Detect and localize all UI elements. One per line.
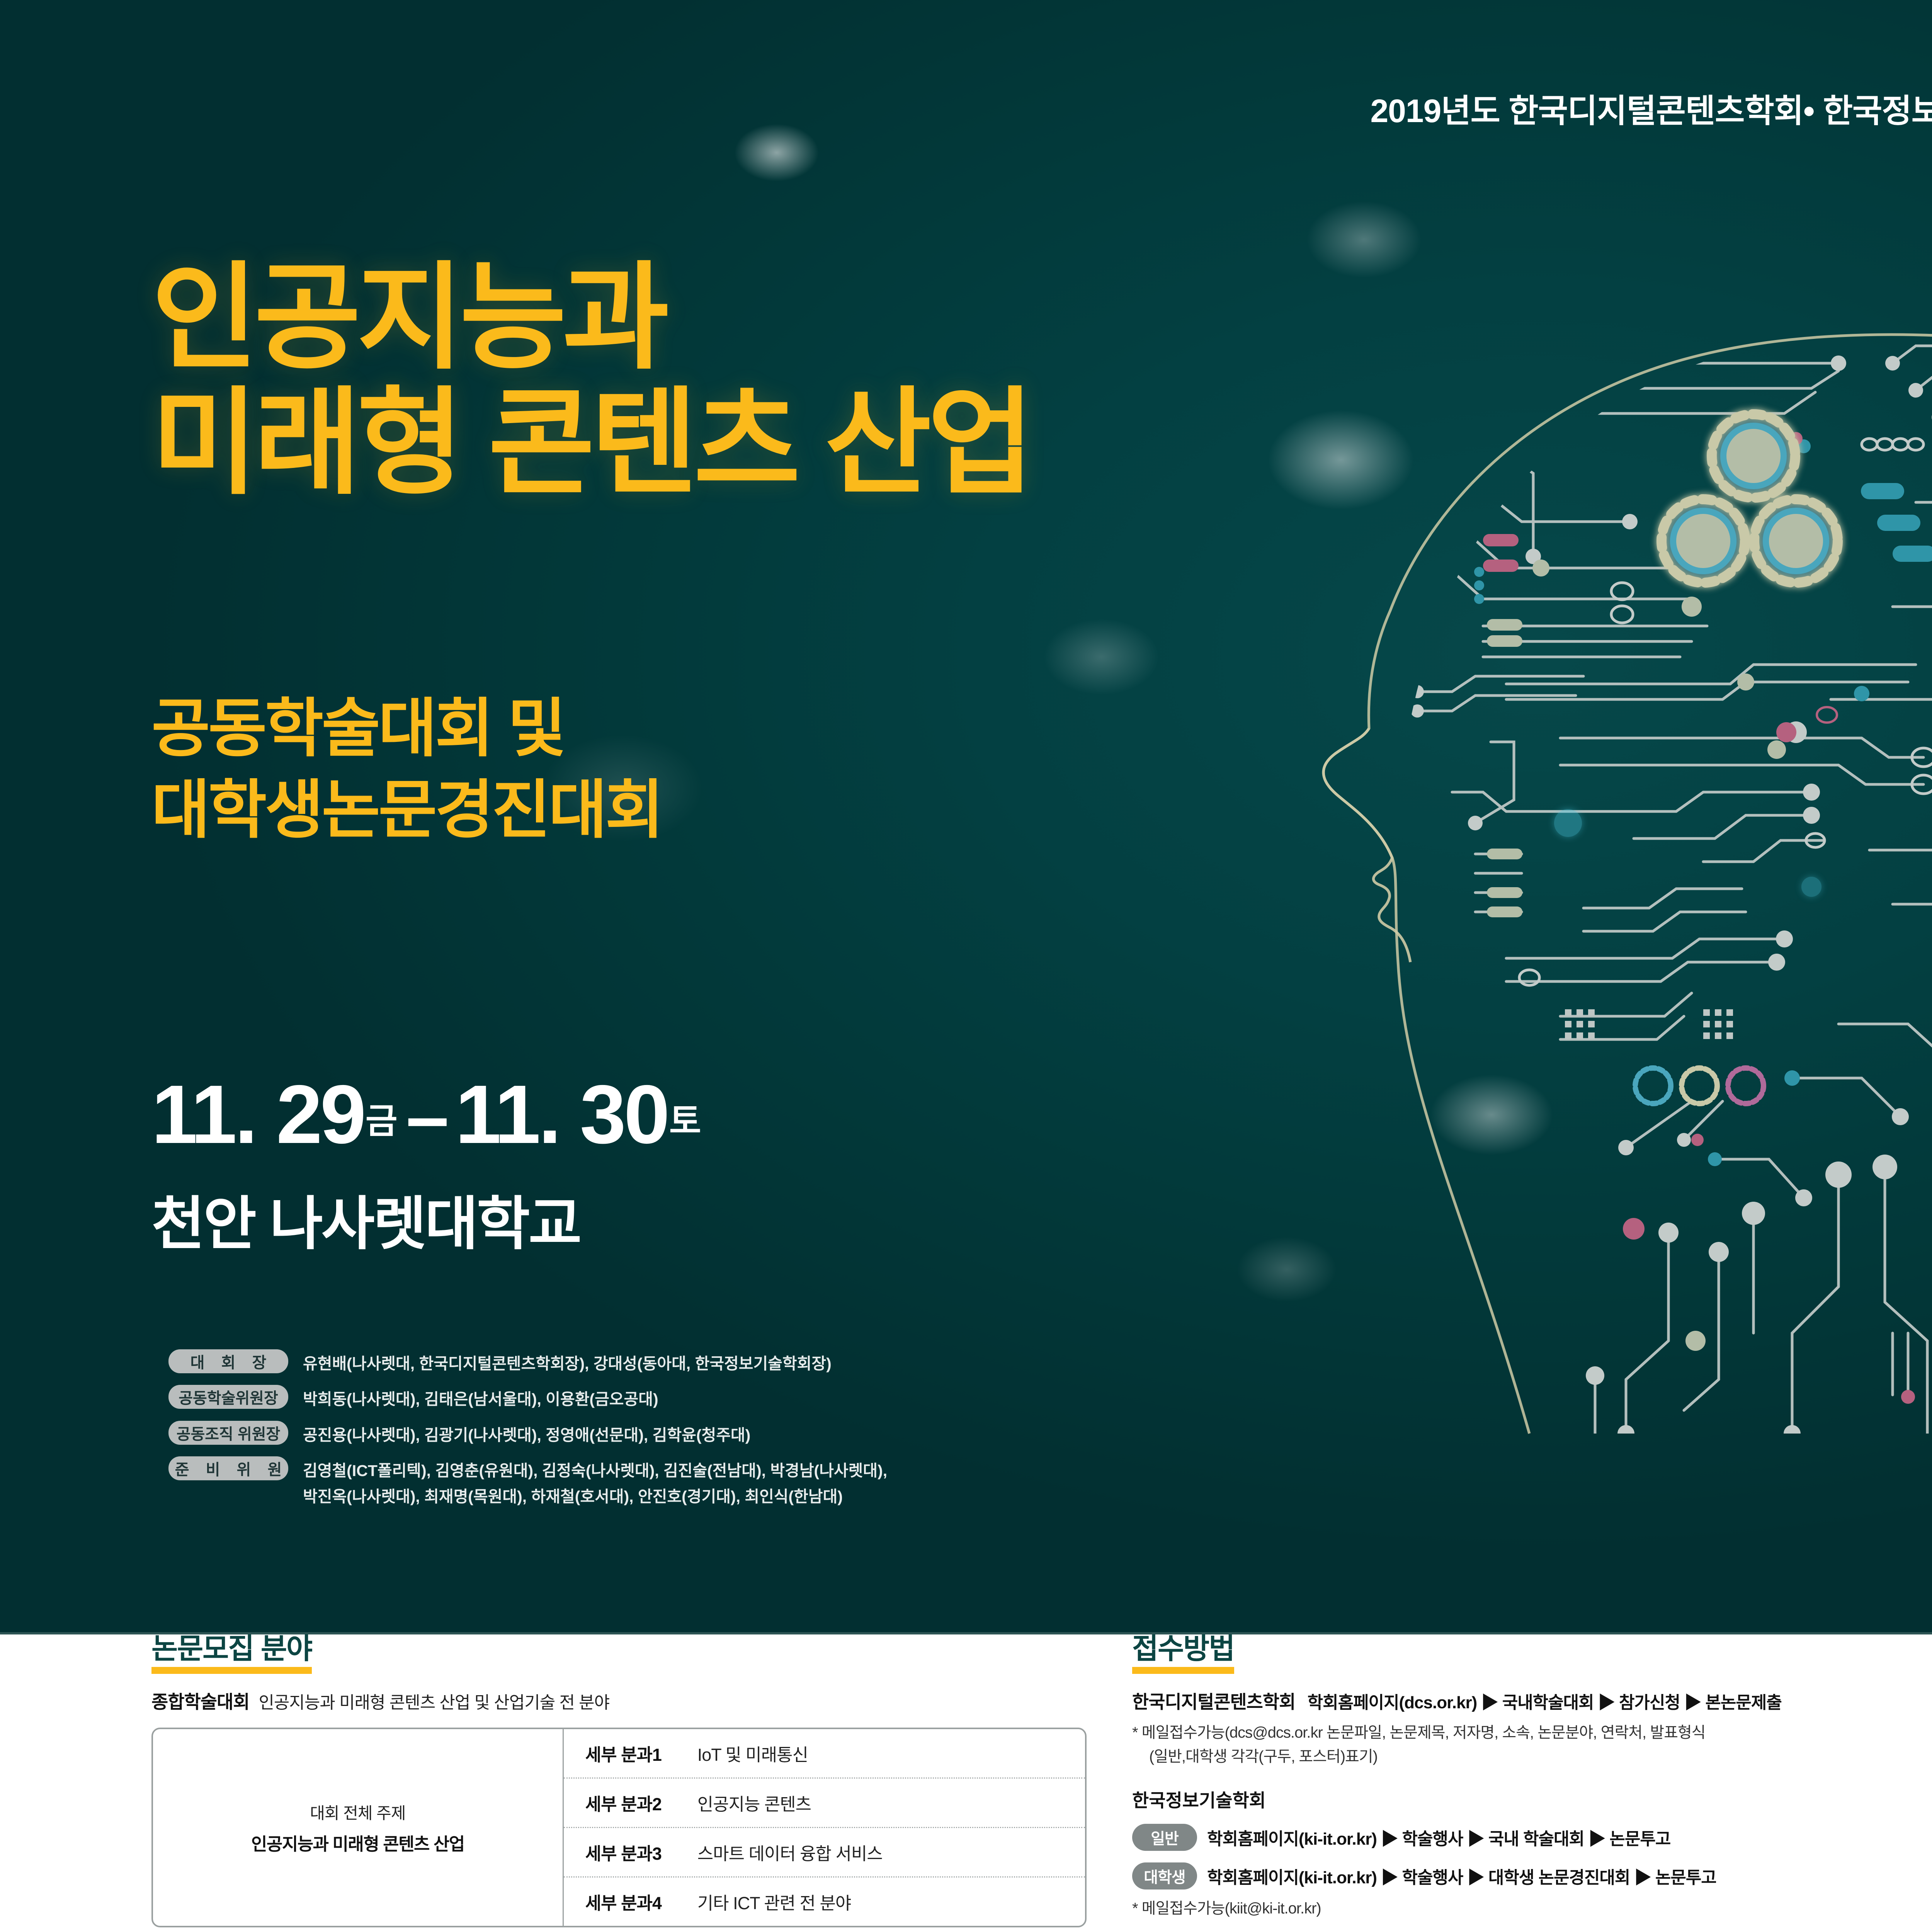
track-cell: 세부 분과2인공지능 콘텐츠 xyxy=(563,1778,1085,1828)
application-dcs-note: * 메일접수가능(dcs@dcs.or.kr 논문파일, 논문제목, 저자명, … xyxy=(1132,1721,1932,1769)
left-column: 논문모집 분야 종합학술대회 인공지능과 미래형 콘텐츠 산업 및 산업기술 전… xyxy=(151,1634,1087,1932)
theme-label: 대회 전체 주제 xyxy=(159,1800,556,1824)
committee-names: 박희동(나사렛대), 김태은(남서울대), 이용환(금오공대) xyxy=(303,1385,658,1412)
application-path: 학회홈페이지(dcs.or.kr) ▶ 국내학술대회 ▶ 참가신청 ▶ 본논문제… xyxy=(1308,1693,1782,1712)
committee-names: 공진용(나사렛대), 김광기(나사렛대), 정영애(선문대), 김학윤(청주대) xyxy=(303,1421,750,1448)
application-path: 학회홈페이지(ki-it.or.kr) ▶ 학술행사 ▶ 대학생 논문경진대회 … xyxy=(1207,1864,1716,1888)
track-name: IoT 및 미래통신 xyxy=(697,1745,808,1765)
date-start: 11. 29 xyxy=(151,1068,364,1161)
right-column: 접수방법 한국디지털콘텐츠학회 학회홈페이지(dcs.or.kr) ▶ 국내학술… xyxy=(1132,1634,1932,1932)
badge-student: 대학생 xyxy=(1132,1862,1197,1889)
poster-title: 인공지능과 미래형 콘텐츠 산업 xyxy=(151,255,1031,505)
committee-name-line: 유현배(나사렛대, 한국디지털콘텐츠학회장), 강대성(동아대, 한국정보기술학… xyxy=(303,1351,832,1376)
date-end: 11. 30 xyxy=(455,1068,668,1161)
track-label: 세부 분과2 xyxy=(585,1790,697,1815)
committee-row: 준 비 위 원 김영철(ICT폴리텍), 김영춘(유원대), 김정숙(나사렛대)… xyxy=(168,1456,1250,1509)
track-label: 세부 분과4 xyxy=(585,1889,697,1914)
track-name: 기타 ICT 관련 전 분야 xyxy=(697,1893,851,1913)
committee-row: 공동조직 위원장 공진용(나사렛대), 김광기(나사렛대), 정영애(선문대),… xyxy=(168,1421,1250,1448)
topic-table: 대회 전체 주제 인공지능과 미래형 콘텐츠 산업 세부 분과1IoT 및 미래… xyxy=(151,1728,1087,1927)
application-note-line-2: (일반,대학생 각각(구두, 포스터)표기) xyxy=(1132,1745,1932,1769)
application-path: 학회홈페이지(ki-it.or.kr) ▶ 학술행사 ▶ 국내 학술대회 ▶ 논… xyxy=(1207,1825,1670,1850)
theme-value: 인공지능과 미래형 콘텐츠 산업 xyxy=(159,1830,556,1855)
track-cell: 세부 분과3스마트 데이터 융합 서비스 xyxy=(563,1828,1085,1877)
track-label: 세부 분과1 xyxy=(585,1741,697,1766)
subtitle-line-2: 대학생논문경진대회 xyxy=(151,769,662,851)
glow-decoration xyxy=(1043,618,1159,696)
application-kiit-row: 대학생 학회홈페이지(ki-it.or.kr) ▶ 학술행사 ▶ 대학생 논문경… xyxy=(1132,1862,1932,1889)
committee-role: 공동학술위원장 xyxy=(168,1385,288,1409)
theme-cell: 대회 전체 주제 인공지능과 미래형 콘텐츠 산업 xyxy=(153,1729,563,1926)
track-cell: 세부 분과1IoT 및 미래통신 xyxy=(563,1729,1085,1778)
section-heading-application: 접수방법 xyxy=(1132,1634,1234,1674)
application-kiit-block: 한국정보기술학회 일반 학회홈페이지(ki-it.or.kr) ▶ 학술행사 ▶… xyxy=(1132,1786,1932,1920)
subtitle-line-1: 공동학술대회 및 xyxy=(151,688,662,769)
track-name: 인공지능 콘텐츠 xyxy=(697,1794,811,1814)
committee-row: 공동학술위원장 박희동(나사렛대), 김태은(남서울대), 이용환(금오공대) xyxy=(168,1385,1250,1412)
application-kiit-row: 일반 학회홈페이지(ki-it.or.kr) ▶ 학술행사 ▶ 국내 학술대회 … xyxy=(1132,1824,1932,1851)
application-society-name: 한국디지털콘텐츠학회 xyxy=(1132,1692,1295,1712)
date-start-dow: 금 xyxy=(366,1102,398,1141)
application-note-line-1: * 메일접수가능(dcs@dcs.or.kr 논문파일, 논문제목, 저자명, … xyxy=(1132,1724,1705,1741)
application-kiit-note: * 메일접수가능(kiit@ki-it.or.kr) xyxy=(1132,1896,1932,1920)
hero-tagline: 2019년도 한국디지털콘텐츠학회• 한국정보기술학회 xyxy=(1370,85,1932,132)
section-heading-text: 접수방법 xyxy=(1132,1634,1234,1663)
event-date-block: 11. 29금–11. 30토 천안 나사렛대학교 xyxy=(151,1066,704,1261)
committee-name-line: 김영철(ICT폴리텍), 김영춘(유원대), 김정숙(나사렛대), 김진술(전남… xyxy=(303,1458,887,1483)
application-society-name: 한국정보기술학회 xyxy=(1132,1786,1932,1812)
general-conference-row: 종합학술대회 인공지능과 미래형 콘텐츠 산업 및 산업기술 전 분야 xyxy=(151,1687,1087,1714)
committee-names: 유현배(나사렛대, 한국디지털콘텐츠학회장), 강대성(동아대, 한국정보기술학… xyxy=(303,1349,832,1376)
committee-row: 대 회 장 유현배(나사렛대, 한국디지털콘텐츠학회장), 강대성(동아대, 한… xyxy=(168,1349,1250,1376)
general-conference-value: 인공지능과 미래형 콘텐츠 산업 및 산업기술 전 분야 xyxy=(259,1689,609,1713)
general-conference-label: 종합학술대회 xyxy=(151,1687,249,1714)
title-line-2: 미래형 콘텐츠 산업 xyxy=(151,380,1031,505)
committee-list: 대 회 장 유현배(나사렛대, 한국디지털콘텐츠학회장), 강대성(동아대, 한… xyxy=(168,1349,1250,1518)
application-section: 접수방법 한국디지털콘텐츠학회 학회홈페이지(dcs.or.kr) ▶ 국내학술… xyxy=(1132,1634,1932,1920)
badge-general: 일반 xyxy=(1132,1824,1197,1851)
application-dcs-row: 한국디지털콘텐츠학회 학회홈페이지(dcs.or.kr) ▶ 국내학술대회 ▶ … xyxy=(1132,1687,1932,1714)
committee-role: 준 비 위 원 xyxy=(168,1456,288,1480)
event-date: 11. 29금–11. 30토 xyxy=(151,1066,704,1162)
section-heading-text: 논문모집 분야 xyxy=(151,1634,312,1663)
section-heading-call-for-papers: 논문모집 분야 xyxy=(151,1634,312,1674)
glow-decoration xyxy=(734,124,819,182)
committee-name-line: 박진옥(나사렛대), 최재명(목원대), 하재철(호서대), 안진호(경기대),… xyxy=(303,1484,887,1509)
committee-name-line: 박희동(나사렛대), 김태은(남서울대), 이용환(금오공대) xyxy=(303,1386,658,1412)
committee-name-line: 공진용(나사렛대), 김광기(나사렛대), 정영애(선문대), 김학윤(청주대) xyxy=(303,1422,750,1448)
track-cell: 세부 분과4기타 ICT 관련 전 분야 xyxy=(563,1877,1085,1926)
table-row: 대회 전체 주제 인공지능과 미래형 콘텐츠 산업 세부 분과1IoT 및 미래… xyxy=(153,1729,1085,1778)
track-name: 스마트 데이터 융합 서비스 xyxy=(697,1844,883,1864)
hero-section: 2019년도 한국디지털콘텐츠학회• 한국정보기술학회 인공지능과 미래형 콘텐… xyxy=(0,0,1932,1634)
info-section: 논문모집 분야 종합학술대회 인공지능과 미래형 콘텐츠 산업 및 산업기술 전… xyxy=(0,1634,1932,1932)
circuit-head-graphic xyxy=(1236,58,1932,1604)
track-label: 세부 분과3 xyxy=(585,1840,697,1865)
poster: 2019년도 한국디지털콘텐츠학회• 한국정보기술학회 인공지능과 미래형 콘텐… xyxy=(0,0,1932,1932)
heading-underline xyxy=(151,1667,312,1674)
date-dash: – xyxy=(406,1073,449,1160)
title-line-1: 인공지능과 xyxy=(151,255,1031,380)
heading-underline xyxy=(1132,1667,1234,1674)
call-for-papers-section: 논문모집 분야 종합학술대회 인공지능과 미래형 콘텐츠 산업 및 산업기술 전… xyxy=(151,1634,1087,1932)
event-venue: 천안 나사렛대학교 xyxy=(151,1177,704,1261)
poster-subtitle: 공동학술대회 및 대학생논문경진대회 xyxy=(151,688,662,851)
committee-names: 김영철(ICT폴리텍), 김영춘(유원대), 김정숙(나사렛대), 김진술(전남… xyxy=(303,1456,887,1509)
committee-role: 대 회 장 xyxy=(168,1349,288,1373)
committee-role: 공동조직 위원장 xyxy=(168,1421,288,1445)
date-end-dow: 토 xyxy=(669,1102,701,1141)
